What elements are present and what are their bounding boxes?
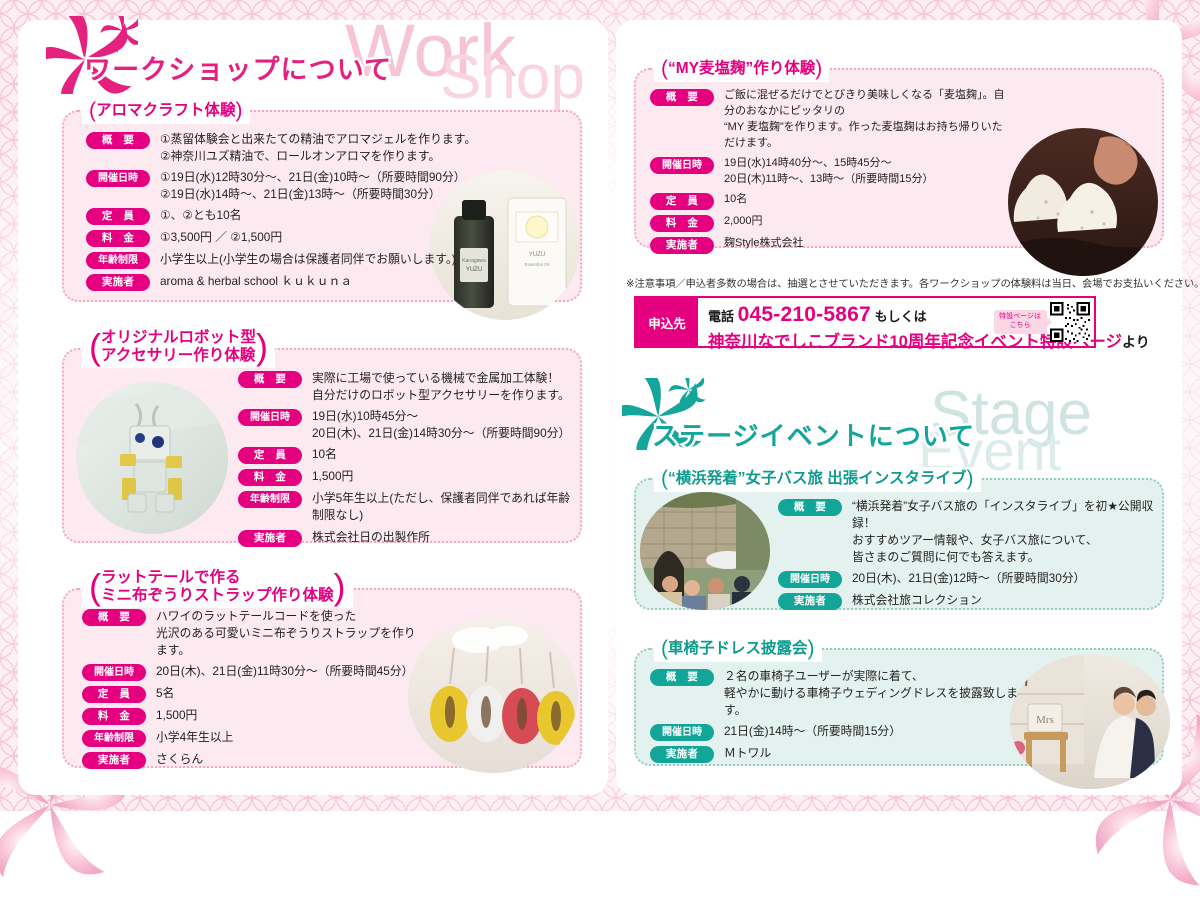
- paren-close: ): [815, 57, 822, 80]
- detail-row-label: 実施者: [650, 746, 714, 763]
- detail-row-label: 概 要: [238, 371, 302, 388]
- apply-tag-label: 申込先: [636, 298, 698, 346]
- detail-row: 実施者Ｍトワル: [650, 745, 1030, 763]
- detail-row-value: 5名: [156, 685, 174, 702]
- detail-row-label: 実施者: [778, 593, 842, 610]
- detail-row-value: 小学4年生以上: [156, 729, 233, 746]
- detail-row: 概 要ご飯に混ぜるだけでとびきり美味しくなる「麦塩麹」。自分のおなかにピッタリの…: [650, 88, 1010, 152]
- detail-row: 開催日時①19日(水)12時30分〜、21日(金)10時〜（所要時間90分） ②…: [86, 169, 516, 203]
- detail-row-value: 21日(金)14時〜（所要時間15分）: [724, 723, 901, 740]
- workshop-card-aroma-rows: 概 要①蒸留体験会と出来たての精油でアロマジェルを作ります。 ②神奈川ユズ精油で…: [86, 131, 516, 295]
- detail-row-label: 開催日時: [86, 170, 150, 187]
- detail-row: 定 員10名: [650, 192, 1010, 210]
- robot-accessory-photo: [76, 382, 228, 534]
- detail-row-label: 開催日時: [778, 571, 842, 588]
- paren-open: (: [89, 326, 101, 367]
- detail-row: 年齢制限小学4年生以上: [82, 729, 422, 747]
- paren-close: ): [808, 637, 815, 660]
- stage-card-bustour-title: (“横浜発着”女子バス旅 出張インスタライブ): [654, 467, 981, 492]
- svg-text:Essential Oil: Essential Oil: [524, 262, 549, 267]
- detail-row: 概 要ハワイのラットテールコードを使った 光沢のある可愛いミニ布ぞうりストラップ…: [82, 608, 422, 659]
- detail-row-value: 19日(水)14時40分〜、15時45分〜 20日(木)11時〜、13時〜（所要…: [724, 156, 933, 188]
- workshop-card-zori-rows: 概 要ハワイのラットテールコードを使った 光沢のある可愛いミニ布ぞうりストラップ…: [82, 608, 422, 773]
- detail-row: 概 要①蒸留体験会と出来たての精油でアロマジェルを作ります。 ②神奈川ユズ精油で…: [86, 131, 516, 165]
- card-title-line1: ラットテールで作る: [101, 569, 334, 587]
- detail-row-value: 10名: [724, 192, 747, 208]
- detail-row-value: 株式会社日の出製作所: [312, 529, 430, 546]
- detail-row-label: 年齢制限: [86, 252, 150, 269]
- detail-row-value: ①19日(水)12時30分〜、21日(金)10時〜（所要時間90分） ②19日(…: [160, 169, 466, 203]
- card-title-text: アロマクラフト体験: [96, 102, 236, 119]
- detail-row: 概 要２名の車椅子ユーザーが実際に着て、 軽やかに動ける車椅子ウェディングドレス…: [650, 668, 1030, 719]
- detail-row-label: 定 員: [650, 193, 714, 210]
- detail-row: 年齢制限小学生以上(小学生の場合は保護者同伴でお願いします。): [86, 251, 516, 269]
- paren-open: (: [89, 566, 101, 607]
- detail-row: 実施者麹Style株式会社: [650, 236, 1010, 254]
- paren-close: ): [334, 566, 346, 607]
- workshop-section-title: ワークショップについて: [84, 48, 392, 87]
- paren-open: (: [661, 57, 668, 80]
- workshop-card-robot-title: (オリジナルロボット型アクセサリー作り体験): [82, 326, 275, 368]
- detail-row: 年齢制限小学5年生以上(ただし、保護者同伴であれば年齢制限なし): [238, 490, 578, 524]
- detail-row-label: 概 要: [86, 132, 150, 149]
- paren-open: (: [661, 467, 668, 490]
- workshop-card-kouji-rows: 概 要ご飯に混ぜるだけでとびきり美味しくなる「麦塩麹」。自分のおなかにピッタリの…: [650, 88, 1010, 258]
- workshop-card-kouji-title: (“MY麦塩麹”作り体験): [654, 57, 829, 82]
- detail-row-value: 20日(木)、21日(金)12時〜（所要時間30分）: [852, 570, 1085, 587]
- detail-row-label: 定 員: [86, 208, 150, 225]
- detail-row: 開催日時19日(水)10時45分〜 20日(木)、21日(金)14時30分〜（所…: [238, 408, 578, 442]
- detail-row-label: 定 員: [238, 447, 302, 464]
- detail-row-label: 概 要: [778, 499, 842, 516]
- detail-row-label: 開催日時: [82, 664, 146, 681]
- detail-row-value: 10名: [312, 446, 337, 463]
- card-title-line1: オリジナルロボット型: [101, 329, 256, 347]
- card-title-line2: ミニ布ぞうりストラップ作り体験: [101, 587, 334, 605]
- detail-row: 概 要実際に工場で使っている機械で金属加工体験！ 自分だけのロボット型アクセサリ…: [238, 370, 578, 404]
- detail-row-label: 開催日時: [650, 724, 714, 741]
- apply-site-tail: より: [1122, 334, 1150, 350]
- notice-text: ※注意事項／申込者多数の場合は、抽選とさせていただきます。各ワークショップの体験…: [626, 275, 1200, 290]
- detail-row: 料 金1,500円: [238, 468, 578, 486]
- detail-row-label: 実施者: [238, 530, 302, 547]
- stage-section-title: ステージイベントについて: [652, 416, 975, 453]
- detail-row-value: ハワイのラットテールコードを使った 光沢のある可愛いミニ布ぞうりストラップを作り…: [156, 608, 422, 659]
- detail-row-label: 実施者: [650, 237, 714, 254]
- detail-row: 料 金2,000円: [650, 214, 1010, 232]
- svg-text:YUZU: YUZU: [529, 252, 545, 258]
- detail-row-value: 19日(水)10時45分〜 20日(木)、21日(金)14時30分〜（所要時間9…: [312, 408, 570, 442]
- detail-row-value: 麹Style株式会社: [724, 236, 803, 252]
- detail-row: 実施者株式会社旅コレクション: [778, 592, 1168, 610]
- detail-row-value: 1,500円: [156, 707, 197, 724]
- qr-code-icon[interactable]: [1050, 302, 1090, 342]
- detail-row: 実施者さくらん: [82, 751, 422, 769]
- workshop-card-robot-rows: 概 要実際に工場で使っている機械で金属加工体験！ 自分だけのロボット型アクセサリ…: [238, 370, 578, 551]
- detail-row: 開催日時20日(木)、21日(金)12時〜（所要時間30分）: [778, 570, 1168, 588]
- detail-row: 定 員5名: [82, 685, 422, 703]
- detail-row: 実施者aroma & herbal school ｋｕｋｕｎａ: [86, 273, 516, 291]
- stage-card-wheelchair-title: (車椅子ドレス披露会): [654, 637, 822, 662]
- detail-row-label: 料 金: [82, 708, 146, 725]
- svg-text:Mrs: Mrs: [1036, 714, 1054, 726]
- detail-row-label: 年齢制限: [238, 491, 302, 508]
- detail-row-value: 20日(木)、21日(金)11時30分〜（所要時間45分）: [156, 663, 413, 680]
- detail-row-label: 料 金: [238, 469, 302, 486]
- apply-phone-number[interactable]: 045-210-5867: [738, 303, 871, 326]
- apply-phone-tail: もしくは: [875, 309, 927, 324]
- detail-row-value: “横浜発着”女子バス旅の「インスタライブ」を初★公開収録！ おすすめツアー情報や…: [852, 498, 1168, 566]
- detail-row-value: aroma & herbal school ｋｕｋｕｎａ: [160, 273, 352, 290]
- detail-row-value: 実際に工場で使っている機械で金属加工体験！ 自分だけのロボット型アクセサリーを作…: [312, 370, 570, 404]
- detail-row: 定 員①、②とも10名: [86, 207, 516, 225]
- bus-tour-group-photo: [640, 492, 770, 610]
- paren-open: (: [89, 99, 96, 122]
- detail-row: 定 員10名: [238, 446, 578, 464]
- qr-area: 特設ページは こちら: [994, 302, 1090, 342]
- detail-row-label: 概 要: [650, 669, 714, 686]
- detail-row-value: ご飯に混ぜるだけでとびきり美味しくなる「麦塩麹」。自分のおなかにピッタリの “M…: [724, 88, 1010, 152]
- detail-row: 料 金①3,500円 ／ ②1,500円: [86, 229, 516, 247]
- detail-row: 概 要“横浜発着”女子バス旅の「インスタライブ」を初★公開収録！ おすすめツアー…: [778, 498, 1168, 566]
- wedding-dress-photo: Mrs: [1010, 654, 1170, 789]
- apply-box: 申込先 電話 045-210-5867 もしくは 神奈川なでしこブランド10周年…: [634, 296, 1096, 348]
- qr-bubble-label: 特設ページは こちら: [994, 310, 1047, 334]
- detail-row-value: ①蒸留体験会と出来たての精油でアロマジェルを作ります。 ②神奈川ユズ精油で、ロー…: [160, 131, 476, 165]
- detail-row-label: 料 金: [650, 215, 714, 232]
- detail-row: 料 金1,500円: [82, 707, 422, 725]
- paren-close: ): [236, 99, 243, 122]
- detail-row-value: ①、②とも10名: [160, 207, 241, 224]
- apply-phone-label: 電話: [708, 309, 734, 324]
- detail-row-label: 概 要: [650, 89, 714, 106]
- detail-row-value: ①3,500円 ／ ②1,500円: [160, 229, 282, 246]
- onigiri-rice-ball-photo: [1008, 128, 1158, 276]
- detail-row: 開催日時21日(金)14時〜（所要時間15分）: [650, 723, 1030, 741]
- detail-row-value: 小学生以上(小学生の場合は保護者同伴でお願いします。): [160, 251, 456, 268]
- detail-row: 実施者株式会社日の出製作所: [238, 529, 578, 547]
- detail-row-label: 概 要: [82, 609, 146, 626]
- detail-row-label: 年齢制限: [82, 730, 146, 747]
- detail-row-value: ２名の車椅子ユーザーが実際に着て、 軽やかに動ける車椅子ウェディングドレスを披露…: [724, 668, 1030, 719]
- paren-close: ): [967, 467, 974, 490]
- detail-row-value: 1,500円: [312, 468, 353, 485]
- detail-row: 開催日時20日(木)、21日(金)11時30分〜（所要時間45分）: [82, 663, 422, 681]
- detail-row-label: 定 員: [82, 686, 146, 703]
- detail-row-label: 開催日時: [238, 409, 302, 426]
- workshop-card-zori-title: (ラットテールで作るミニ布ぞうりストラップ作り体験): [82, 566, 353, 608]
- detail-row-value: 小学5年生以上(ただし、保護者同伴であれば年齢制限なし): [312, 490, 578, 524]
- detail-row-value: 株式会社旅コレクション: [852, 592, 982, 609]
- mini-zori-strap-photo: [408, 618, 578, 773]
- detail-row-label: 実施者: [86, 274, 150, 291]
- detail-row: 開催日時19日(水)14時40分〜、15時45分〜 20日(木)11時〜、13時…: [650, 156, 1010, 188]
- detail-row-label: 料 金: [86, 230, 150, 247]
- paren-open: (: [661, 637, 668, 660]
- paren-close: ): [256, 326, 268, 367]
- workshop-card-aroma-title: (アロマクラフト体験): [82, 99, 250, 124]
- qr-bubble-line1: 特設ページは: [999, 313, 1041, 322]
- detail-row-value: Ｍトワル: [724, 745, 771, 762]
- card-title-text: “横浜発着”女子バス旅 出張インスタライブ: [668, 470, 967, 487]
- detail-row-value: 2,000円: [724, 214, 763, 230]
- detail-row-label: 開催日時: [650, 157, 714, 174]
- stage-card-wheelchair-rows: 概 要２名の車椅子ユーザーが実際に着て、 軽やかに動ける車椅子ウェディングドレス…: [650, 668, 1030, 767]
- qr-bubble-line2: こちら: [999, 322, 1041, 331]
- stage-card-bustour-rows: 概 要“横浜発着”女子バス旅の「インスタライブ」を初★公開収録！ おすすめツアー…: [778, 498, 1168, 614]
- detail-row-label: 実施者: [82, 752, 146, 769]
- card-title-text: “MY麦塩麹”作り体験: [668, 60, 815, 77]
- detail-row-value: さくらん: [156, 751, 203, 768]
- card-title-line2: アクセサリー作り体験: [101, 347, 256, 365]
- card-title-text: 車椅子ドレス披露会: [668, 640, 808, 657]
